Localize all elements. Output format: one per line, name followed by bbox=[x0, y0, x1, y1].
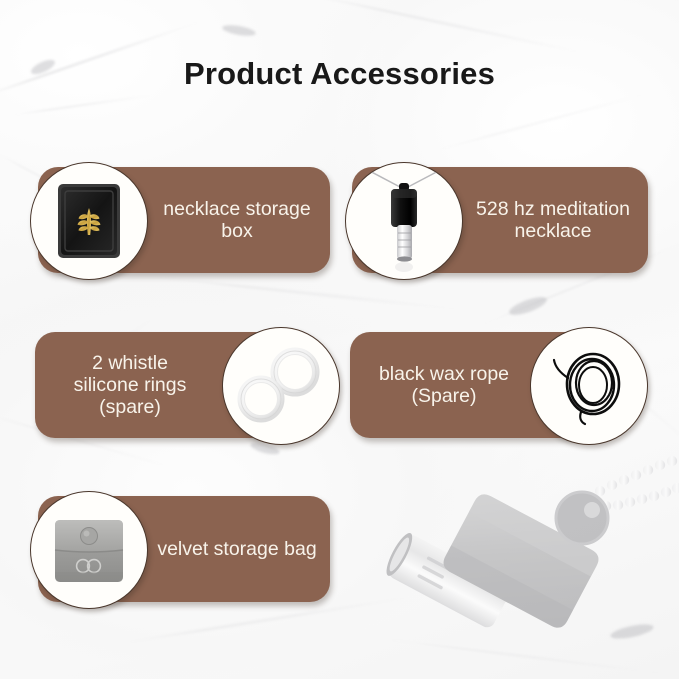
black-jewelry-box-icon bbox=[55, 181, 123, 261]
silicone-o-rings-icon bbox=[235, 346, 327, 426]
whistle-pendant-necklace-icon bbox=[356, 165, 452, 277]
accessory-image-badge-black-wax-rope bbox=[530, 327, 648, 445]
coiled-wax-cord-icon bbox=[545, 342, 633, 430]
accessory-image-badge-silicone-rings bbox=[222, 327, 340, 445]
accessory-image-badge-necklace-storage-box bbox=[30, 162, 148, 280]
infographic-page: Product Accessories necklace storage box bbox=[0, 0, 679, 679]
page-title: Product Accessories bbox=[0, 56, 679, 92]
velvet-pouch-icon bbox=[51, 514, 127, 586]
accessory-image-badge-meditation-necklace bbox=[345, 162, 463, 280]
accessory-image-badge-velvet-storage-bag bbox=[30, 491, 148, 609]
